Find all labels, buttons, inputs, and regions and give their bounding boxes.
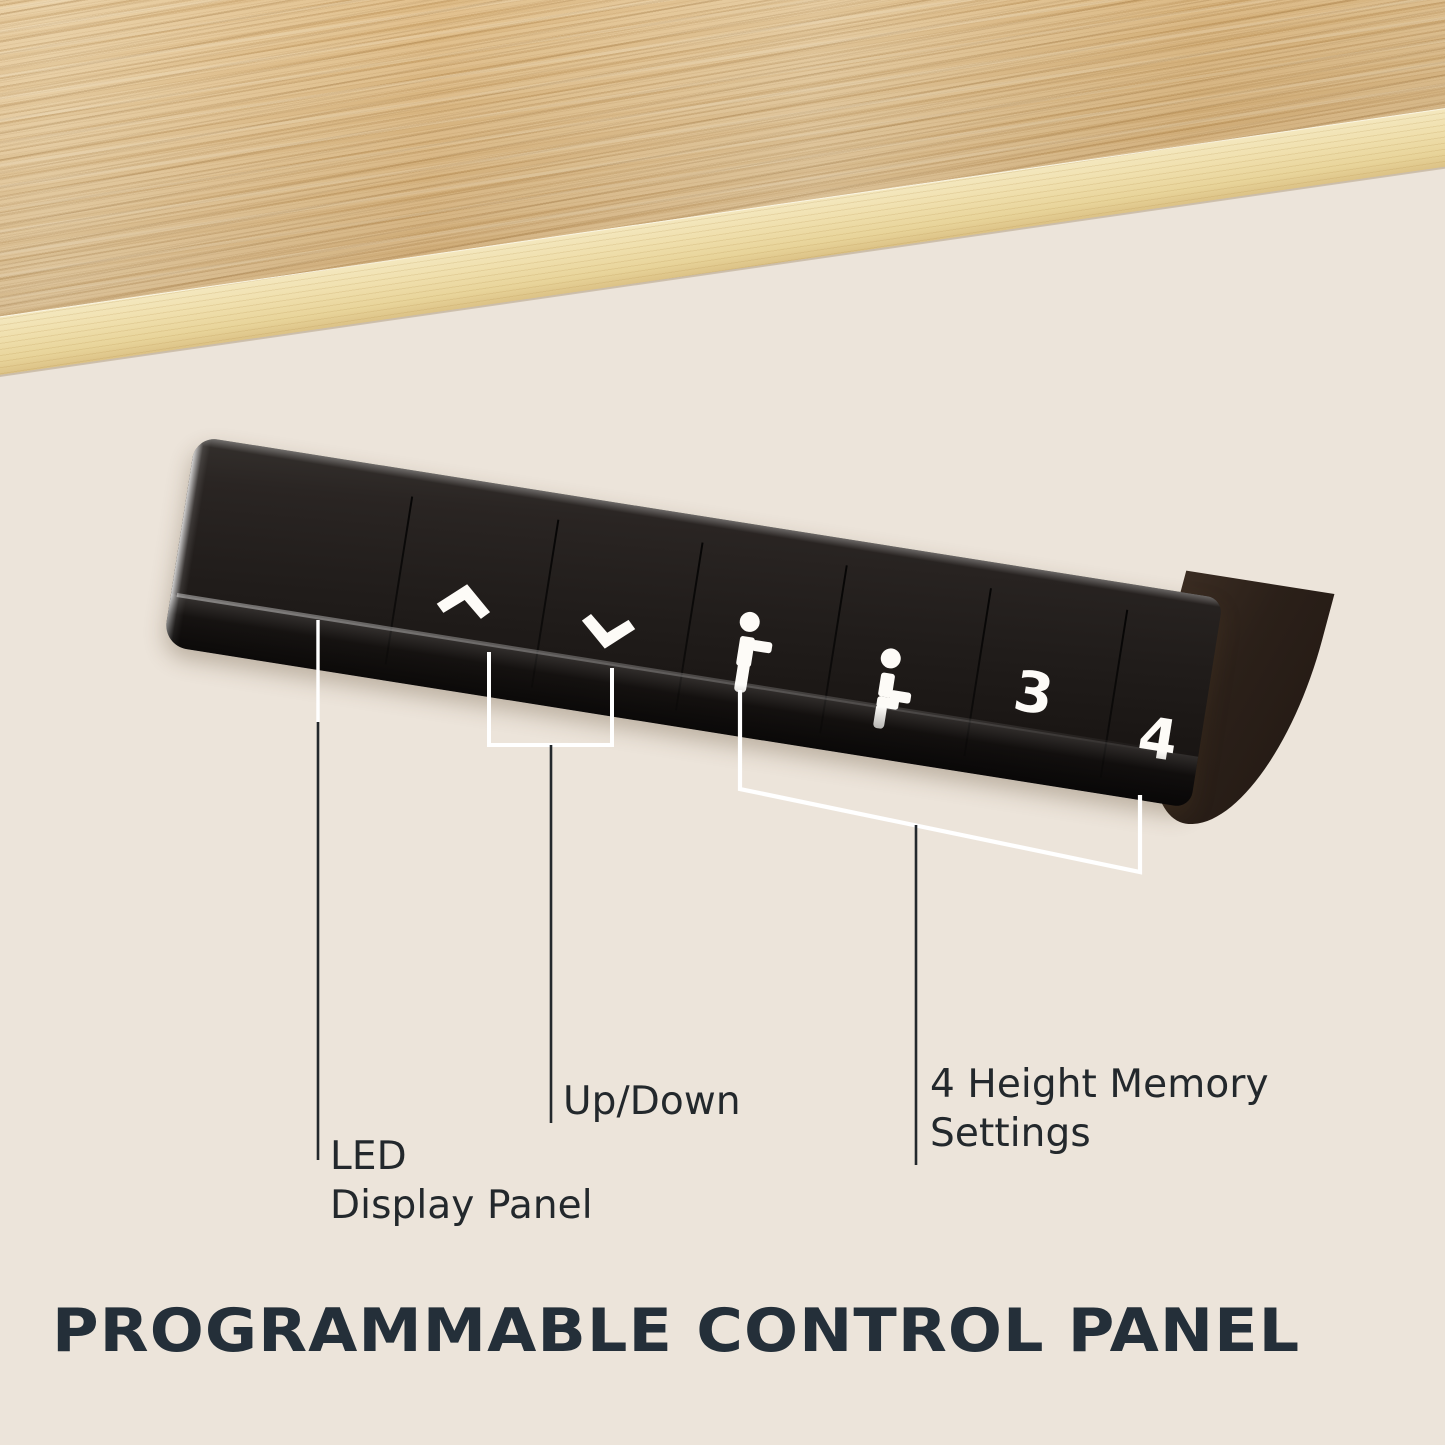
product-marketing-image: 3 4 Up/Down LED Display Panel 4 Height M… (0, 0, 1445, 1445)
chevron-up-icon[interactable] (429, 571, 501, 625)
annotation-led-label: LED Display Panel (330, 1132, 593, 1230)
annotation-memory-label: 4 Height Memory Settings (930, 1060, 1269, 1158)
annotation-updown-label: Up/Down (563, 1077, 741, 1126)
chevron-down-icon[interactable] (571, 610, 643, 664)
headline: PROGRAMMABLE CONTROL PANEL (52, 1296, 1445, 1366)
memory-button-3[interactable]: 3 (1010, 663, 1057, 724)
